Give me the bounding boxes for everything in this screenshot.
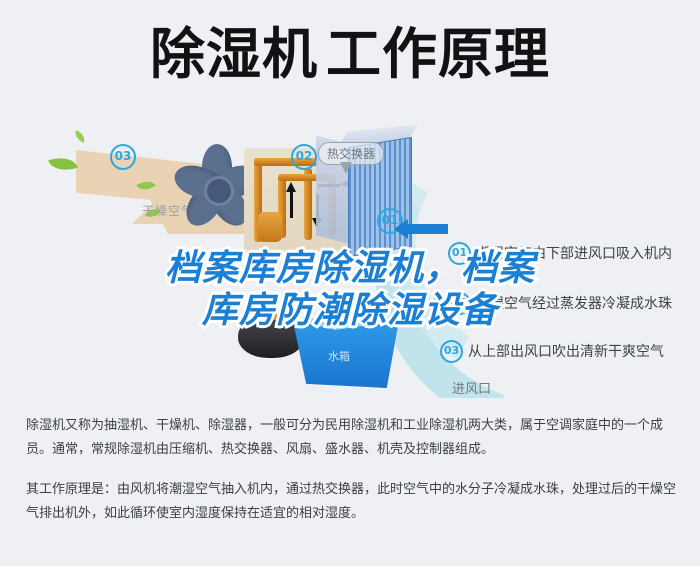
step-text-01: 潮湿空气由下部进风口吸入机内 <box>476 246 672 262</box>
page-title-part2: 工作原理 <box>318 22 550 86</box>
flow-arrow-up-icon <box>286 182 296 192</box>
step-item-02: 02潮湿空气经过蒸发器冷凝成水珠 <box>448 292 672 315</box>
inlet-arrow-head-icon <box>394 219 408 239</box>
compressor-cap <box>258 308 288 320</box>
step-number-02: 02 <box>448 292 471 315</box>
fan-hub <box>204 176 234 206</box>
step-item-03: 03从上部出风口吹出清新干爽空气 <box>440 340 664 363</box>
callout-badge-03: 03 <box>110 144 136 170</box>
page-title-text: 除湿机工作原理 <box>150 18 550 90</box>
water-tank-label: 水箱 <box>328 348 350 364</box>
step-number-03: 03 <box>440 340 463 363</box>
refrigerant-tank <box>258 212 282 242</box>
page-root: 除湿机工作原理 干燥空气 03 <box>0 0 700 566</box>
step-text-02: 潮湿空气经过蒸发器冷凝成水珠 <box>476 296 672 312</box>
inlet-arrow-shaft <box>404 224 448 234</box>
leaf-icon <box>48 152 78 175</box>
leaf-icon <box>73 130 87 143</box>
page-title: 除湿机工作原理 <box>0 18 700 98</box>
step-number-01: 01 <box>448 242 471 265</box>
callout-pointer-icon <box>340 162 352 174</box>
step-text-03: 从上部出风口吹出清新干爽空气 <box>468 344 664 360</box>
body-copy: 除湿机又称为抽湿机、干燥机、除湿器，一般可分为民用除湿机和工业除湿机两大类，属于… <box>26 414 678 526</box>
body-paragraph-2: 其工作原理是：由风机将潮湿空气抽入机内，通过热交换器，此时空气中的水分子冷凝成水… <box>26 478 678 526</box>
callout-badge-02: 02 <box>291 144 317 170</box>
page-title-part1: 除湿机 <box>150 22 318 86</box>
body-paragraph-1: 除湿机又称为抽湿机、干燥机、除湿器，一般可分为民用除湿机和工业除湿机两大类，属于… <box>26 414 678 462</box>
step-item-01: 01潮湿空气由下部进风口吸入机内 <box>448 242 672 265</box>
inlet-label: 进风口 <box>452 378 491 397</box>
flow-arrow-stem <box>290 192 293 218</box>
